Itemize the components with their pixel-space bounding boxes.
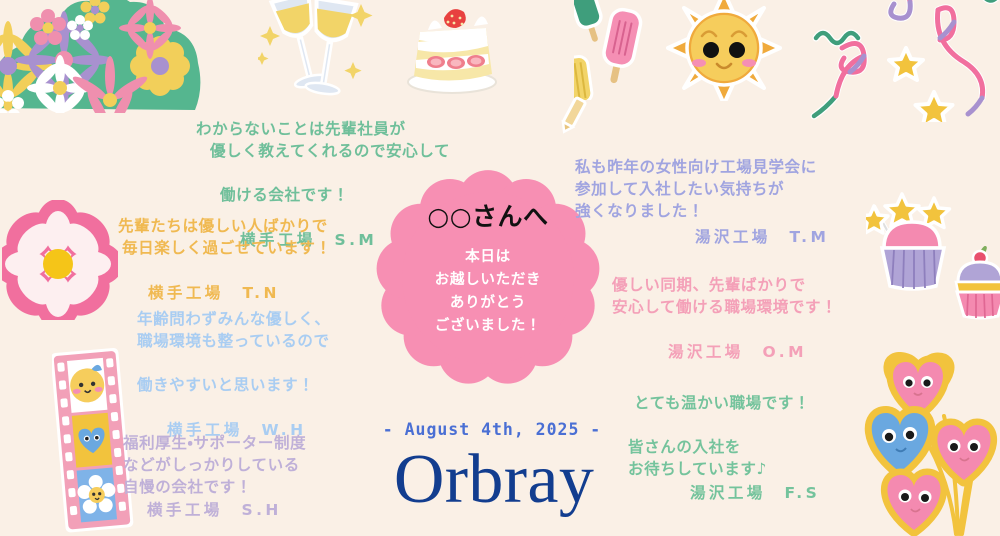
- message-yuzawa-tm: 私も昨年の女性向け工場見学会に 参加して入社したい気持ちが 強くなりました！ 湯…: [575, 134, 829, 270]
- pink-daisy-sticker: [2, 200, 118, 320]
- message-line: 年齢問わずみんな優しく、: [137, 310, 330, 328]
- message-yokote-sh: 福利厚生・サポーター制度 などがしっかりしている 自慢の会社です！ 横手工場 S…: [123, 410, 306, 536]
- message-line: お待ちしています♪: [628, 460, 767, 478]
- pencil-sticker: [556, 96, 590, 136]
- message-line: 毎日楽しく過ごせています！: [118, 237, 332, 259]
- message-signature: 横手工場 S.H: [123, 499, 306, 521]
- message-yuzawa-om: 優しい同期、先輩ばかりで 安心して働ける職場環境です！ 湯沢工場 O.M: [612, 252, 837, 385]
- popsicles-sticker: [574, 0, 654, 100]
- message-line: などがしっかりしている: [123, 456, 300, 474]
- message-line: 優しい同期、先輩ばかりで: [612, 276, 806, 294]
- message-signature: 湯沢工場 O.M: [612, 341, 837, 363]
- badge-body-text: 本日は お越しいただき ありがとう ございました！: [435, 246, 542, 338]
- message-signature: 湯沢工場 T.M: [575, 226, 829, 248]
- heart-balloons-sticker: [858, 352, 1000, 536]
- message-line: わからないことは先輩社員が: [196, 120, 406, 138]
- orbray-logo: Orbray: [366, 445, 622, 515]
- message-line: 安心して働ける職場環境です！: [612, 296, 837, 318]
- message-line: 先輩たちは優しい人ばかりで: [118, 217, 328, 235]
- message-line: 優しく教えてくれるので安心して: [196, 140, 450, 162]
- message-line: 参加して入社したい気持ちが: [575, 180, 784, 198]
- smiling-sun-sticker: [664, 0, 784, 101]
- greeting-card: ○○さんへ 本日は お越しいただき ありがとう ございました！ わからないことは…: [0, 0, 1000, 536]
- strawberry-shortcake-sticker: [398, 4, 506, 96]
- confetti-ribbons-sticker: [806, 0, 1000, 122]
- star-cupcake-sticker: [866, 182, 966, 297]
- event-date: - August 4th, 2025 -: [367, 420, 617, 439]
- champagne-glasses-sticker: [258, 0, 376, 100]
- message-line: 自慢の会社です！: [123, 478, 252, 496]
- flower-bouquet-sticker: [0, 0, 210, 113]
- message-line: 福利厚生・サポーター制度: [123, 434, 306, 452]
- cherry-cupcake-sticker: [950, 240, 1000, 320]
- message-line: とても温かい職場です！: [628, 392, 820, 414]
- message-signature: 湯沢工場 F.S: [628, 482, 820, 504]
- message-yuzawa-fs: とても温かい職場です！ 皆さんの入社を お待ちしています♪ 湯沢工場 F.S: [628, 370, 820, 526]
- message-line: 職場環境も整っているので: [137, 330, 330, 352]
- message-line: 強くなりました！: [575, 202, 704, 220]
- message-line: 私も昨年の女性向け工場見学会に: [575, 158, 817, 176]
- message-line: 働きやすいと思います！: [137, 374, 330, 396]
- message-line: 皆さんの入社を: [628, 438, 741, 456]
